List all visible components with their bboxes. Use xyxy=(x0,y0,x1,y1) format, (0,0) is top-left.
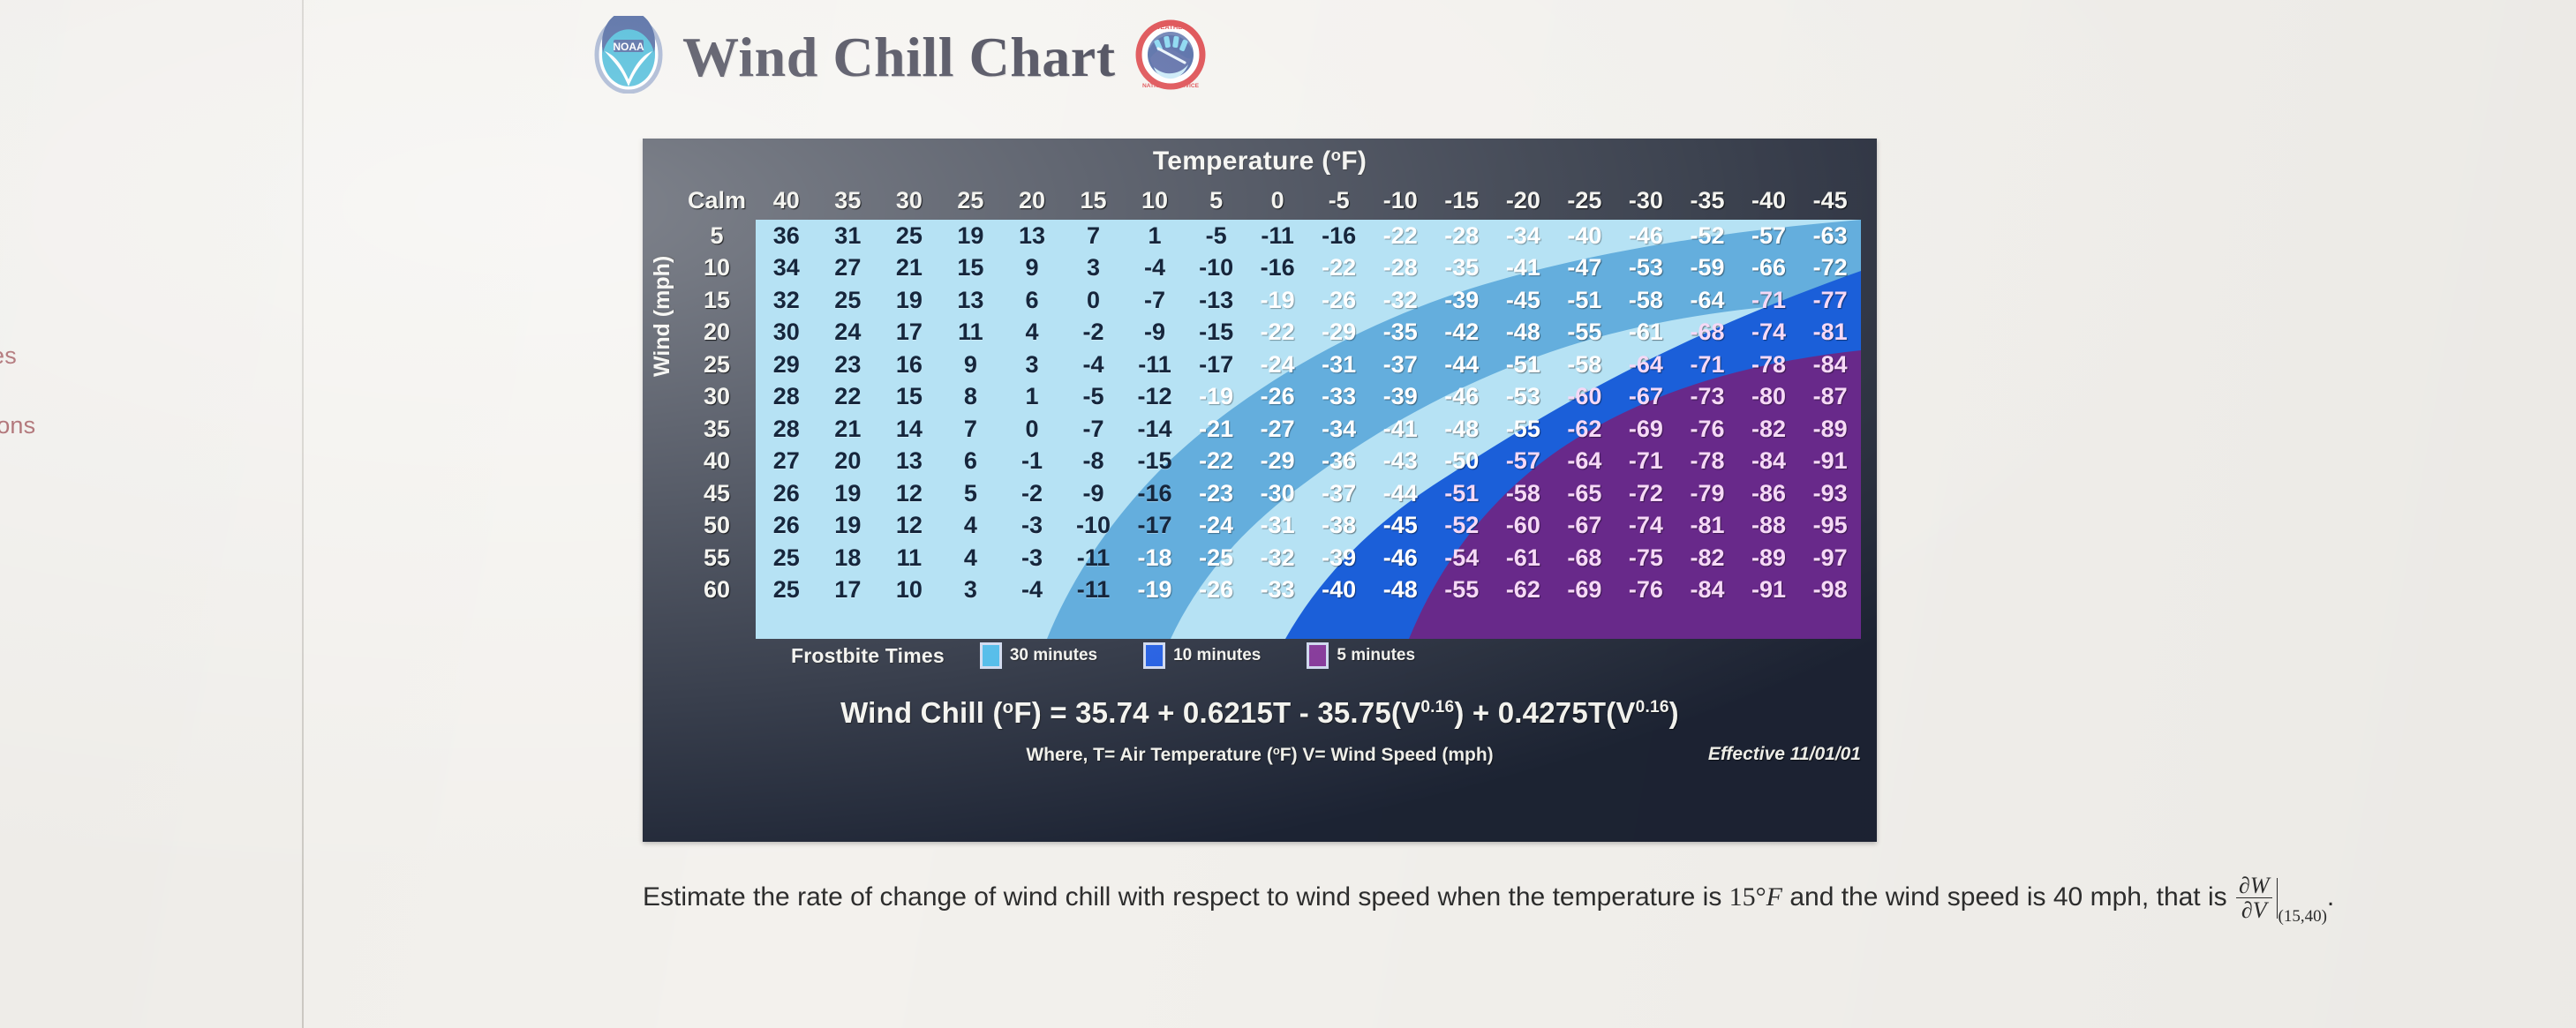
cell-w30-t-45: -87 xyxy=(1799,381,1861,414)
legend-swatch-0 xyxy=(980,642,1002,669)
cell-w60-t-20: -62 xyxy=(1493,574,1555,607)
cell-w60-t-5: -40 xyxy=(1308,574,1370,607)
evaluation-bar xyxy=(2277,878,2278,919)
cell-w50-t5: -24 xyxy=(1186,510,1247,543)
column-header-temp-30: 30 xyxy=(878,181,940,220)
question-period: . xyxy=(2327,882,2334,912)
cell-w45-t20: -2 xyxy=(1001,477,1063,510)
cell-w30-t-25: -60 xyxy=(1554,381,1616,414)
cell-w55-t-40: -89 xyxy=(1738,542,1800,574)
table-row: 153225191360-7-13-19-26-32-39-45-51-58-6… xyxy=(678,284,1861,317)
partial-derivative-fraction: ∂W∂V xyxy=(2236,874,2272,923)
cell-w5-t-20: -34 xyxy=(1493,220,1555,252)
cell-w20-t-30: -61 xyxy=(1616,317,1677,349)
column-header-temp-5: 5 xyxy=(1186,181,1247,220)
where-prefix: Where, T= Air Temperature ( xyxy=(1026,745,1272,765)
table-row: 552518114-3-11-18-25-32-39-46-54-61-68-7… xyxy=(678,542,1861,574)
table-row: 3528211470-7-14-21-27-34-41-48-55-62-69-… xyxy=(678,413,1861,446)
row-header-wind-40: 40 xyxy=(678,446,756,478)
formula-body: F) = 35.74 + 0.6215T - 35.75(V xyxy=(1013,696,1420,729)
cell-w20-t-20: -48 xyxy=(1493,317,1555,349)
cell-w55-t-45: -97 xyxy=(1799,542,1861,574)
cell-w10-t-10: -28 xyxy=(1369,252,1431,285)
effective-date: Effective 11/01/01 xyxy=(1708,744,1861,765)
cell-w35-t-45: -89 xyxy=(1799,413,1861,446)
cell-w5-t-10: -22 xyxy=(1369,220,1431,252)
national-weather-service-logo: WEATHER NATIONAL SERVICE xyxy=(1135,19,1206,94)
cell-w10-t-40: -66 xyxy=(1738,252,1800,285)
cell-w50-t15: -10 xyxy=(1063,510,1125,543)
column-header-temp--30: -30 xyxy=(1616,181,1677,220)
cell-w25-t15: -4 xyxy=(1063,349,1125,381)
cell-w25-t20: 3 xyxy=(1001,349,1063,381)
cell-w10-t40: 34 xyxy=(756,252,817,285)
cell-w50-t10: -17 xyxy=(1124,510,1186,543)
cell-w25-t-20: -51 xyxy=(1493,349,1555,381)
question-part-2: and the wind speed is 40 mph, that is xyxy=(1782,882,2234,912)
cell-w60-t-15: -55 xyxy=(1431,574,1493,607)
cell-w20-t10: -9 xyxy=(1124,317,1186,349)
cell-w40-t25: 6 xyxy=(940,446,1002,478)
legend-title: Frostbite Times xyxy=(791,644,945,668)
cell-w45-t-20: -58 xyxy=(1493,477,1555,510)
cell-w55-t5: -25 xyxy=(1186,542,1247,574)
cell-w20-t40: 30 xyxy=(756,317,817,349)
cell-w35-t-10: -41 xyxy=(1369,413,1431,446)
cell-w10-t-35: -59 xyxy=(1676,252,1738,285)
row-header-wind-25: 25 xyxy=(678,349,756,381)
cell-w50-t25: 4 xyxy=(940,510,1002,543)
row-header-wind-20: 20 xyxy=(678,317,756,349)
cell-w55-t-20: -61 xyxy=(1493,542,1555,574)
cell-w35-t-20: -55 xyxy=(1493,413,1555,446)
cell-w45-t-35: -79 xyxy=(1676,477,1738,510)
cell-w10-t-15: -35 xyxy=(1431,252,1493,285)
cell-w35-t-35: -76 xyxy=(1676,413,1738,446)
cell-w20-t20: 4 xyxy=(1001,317,1063,349)
column-header-temp-25: 25 xyxy=(940,181,1002,220)
cell-w15-t-35: -64 xyxy=(1676,284,1738,317)
table-row: 502619124-3-10-17-24-31-38-45-52-60-67-7… xyxy=(678,510,1861,543)
cell-w20-t-15: -42 xyxy=(1431,317,1493,349)
cell-w35-t5: -21 xyxy=(1186,413,1247,446)
row-header-wind-50: 50 xyxy=(678,510,756,543)
degree-symbol: o xyxy=(1331,146,1342,164)
temperature-axis-title-tail: F) xyxy=(1341,146,1367,176)
cell-w40-t15: -8 xyxy=(1063,446,1125,478)
cell-w50-t-40: -88 xyxy=(1738,510,1800,543)
cell-w45-t-25: -65 xyxy=(1554,477,1616,510)
cell-w35-t40: 28 xyxy=(756,413,817,446)
cell-w15-t-20: -45 xyxy=(1493,284,1555,317)
cell-w55-t0: -32 xyxy=(1247,542,1308,574)
cell-w40-t0: -29 xyxy=(1247,446,1308,478)
cell-w25-t30: 16 xyxy=(878,349,940,381)
cell-w5-t15: 7 xyxy=(1063,220,1125,252)
cell-w15-t40: 32 xyxy=(756,284,817,317)
cell-w55-t15: -11 xyxy=(1063,542,1125,574)
cell-w20-t5: -15 xyxy=(1186,317,1247,349)
formula-exponent-1: 0.16 xyxy=(1420,698,1454,717)
cell-w45-t0: -30 xyxy=(1247,477,1308,510)
cell-w5-t40: 36 xyxy=(756,220,817,252)
wind-axis-title: Wind (mph) xyxy=(650,256,675,377)
cell-w40-t-45: -91 xyxy=(1799,446,1861,478)
cell-w15-t-25: -51 xyxy=(1554,284,1616,317)
cell-w60-t40: 25 xyxy=(756,574,817,607)
cell-w60-t10: -19 xyxy=(1124,574,1186,607)
formula-lead: Wind Chill ( xyxy=(840,696,1003,729)
cell-w40-t10: -15 xyxy=(1124,446,1186,478)
cell-w45-t5: -23 xyxy=(1186,477,1247,510)
cell-w40-t-30: -71 xyxy=(1616,446,1677,478)
table-row: 2529231693-4-11-17-24-31-37-44-51-58-64-… xyxy=(678,349,1861,381)
cell-w20-t0: -22 xyxy=(1247,317,1308,349)
table-row: 5363125191371-5-11-16-22-28-34-40-46-52-… xyxy=(678,220,1861,252)
formula-tail: ) xyxy=(1669,696,1679,729)
cell-w5-t-40: -57 xyxy=(1738,220,1800,252)
cell-w25-t25: 9 xyxy=(940,349,1002,381)
wind-chill-formula: Wind Chill (oF) = 35.74 + 0.6215T - 35.7… xyxy=(643,696,1877,730)
cell-w10-t30: 21 xyxy=(878,252,940,285)
cell-w15-t35: 25 xyxy=(817,284,879,317)
table-header-row: Calm 4035302520151050-5-10-15-20-25-30-3… xyxy=(678,181,1861,220)
cell-w25-t-5: -31 xyxy=(1308,349,1370,381)
cell-w15-t30: 19 xyxy=(878,284,940,317)
cell-w40-t-5: -36 xyxy=(1308,446,1370,478)
cell-w20-t35: 24 xyxy=(817,317,879,349)
row-header-wind-15: 15 xyxy=(678,284,756,317)
table-row: 3028221581-5-12-19-26-33-39-46-53-60-67-… xyxy=(678,381,1861,414)
table-body: 5363125191371-5-11-16-22-28-34-40-46-52-… xyxy=(678,220,1861,606)
cell-w50-t35: 19 xyxy=(817,510,879,543)
cell-w25-t40: 29 xyxy=(756,349,817,381)
cell-w5-t-25: -40 xyxy=(1554,220,1616,252)
cell-w30-t-15: -46 xyxy=(1431,381,1493,414)
corner-label-calm: Calm xyxy=(678,181,756,220)
column-header-temp-10: 10 xyxy=(1124,181,1186,220)
cell-w55-t40: 25 xyxy=(756,542,817,574)
table-row: 602517103-4-11-19-26-33-40-48-55-62-69-7… xyxy=(678,574,1861,607)
cell-w50-t-30: -74 xyxy=(1616,510,1677,543)
cell-w15-t-5: -26 xyxy=(1308,284,1370,317)
cell-w30-t40: 28 xyxy=(756,381,817,414)
screenshot-root: es ions NOAA Wind Chill Cha xyxy=(0,0,2576,1028)
cell-w10-t35: 27 xyxy=(817,252,879,285)
formula-legend-line: Where, T= Air Temperature (oF) V= Wind S… xyxy=(643,744,1877,766)
table-row: 452619125-2-9-16-23-30-37-44-51-58-65-72… xyxy=(678,477,1861,510)
cell-w10-t-5: -22 xyxy=(1308,252,1370,285)
cell-w60-t5: -26 xyxy=(1186,574,1247,607)
cell-w50-t-45: -95 xyxy=(1799,510,1861,543)
partial-derivative-numerator: ∂W xyxy=(2236,874,2272,898)
cell-w40-t-20: -57 xyxy=(1493,446,1555,478)
main-content: NOAA Wind Chill Chart xyxy=(303,0,2576,1028)
cell-w15-t-15: -39 xyxy=(1431,284,1493,317)
cell-w25-t-35: -71 xyxy=(1676,349,1738,381)
cell-w30-t5: -19 xyxy=(1186,381,1247,414)
cell-w30-t0: -26 xyxy=(1247,381,1308,414)
formula-mid: ) + 0.4275T(V xyxy=(1454,696,1635,729)
question-temperature-value: 15 xyxy=(1729,882,1756,912)
cell-w15-t0: -19 xyxy=(1247,284,1308,317)
cell-w55-t-5: -39 xyxy=(1308,542,1370,574)
sidebar-text-fragment-1[interactable]: es xyxy=(0,342,17,370)
cell-w45-t-10: -44 xyxy=(1369,477,1431,510)
partial-derivative-denominator: ∂V xyxy=(2236,898,2272,922)
cell-w45-t40: 26 xyxy=(756,477,817,510)
cell-w15-t-30: -58 xyxy=(1616,284,1677,317)
cell-w40-t20: -1 xyxy=(1001,446,1063,478)
cell-w35-t-5: -34 xyxy=(1308,413,1370,446)
cell-w10-t0: -16 xyxy=(1247,252,1308,285)
row-header-wind-35: 35 xyxy=(678,413,756,446)
row-header-wind-45: 45 xyxy=(678,477,756,510)
cell-w25-t-10: -37 xyxy=(1369,349,1431,381)
column-header-temp-40: 40 xyxy=(756,181,817,220)
cell-w55-t10: -18 xyxy=(1124,542,1186,574)
degree-sign: ° xyxy=(1756,882,1766,912)
cell-w50-t-20: -60 xyxy=(1493,510,1555,543)
frostbite-legend: Frostbite Times 30 minutes10 minutes5 mi… xyxy=(791,642,1438,669)
cell-w45-t-45: -93 xyxy=(1799,477,1861,510)
sidebar-text-fragment-2[interactable]: ions xyxy=(0,412,35,439)
legend-label-1: 10 minutes xyxy=(1173,646,1261,665)
cell-w25-t-40: -78 xyxy=(1738,349,1800,381)
cell-w15-t5: -13 xyxy=(1186,284,1247,317)
cell-w55-t25: 4 xyxy=(940,542,1002,574)
cell-w5-t-35: -52 xyxy=(1676,220,1738,252)
legend-item-1: 10 minutes xyxy=(1143,642,1261,669)
column-header-temp--10: -10 xyxy=(1369,181,1431,220)
column-header-temp-0: 0 xyxy=(1247,181,1308,220)
cell-w30-t15: -5 xyxy=(1063,381,1125,414)
cell-w5-t25: 19 xyxy=(940,220,1002,252)
legend-label-0: 30 minutes xyxy=(1010,646,1097,665)
column-header-temp--15: -15 xyxy=(1431,181,1493,220)
svg-text:NATIONAL SERVICE: NATIONAL SERVICE xyxy=(1141,83,1199,89)
cell-w35-t-15: -48 xyxy=(1431,413,1493,446)
cell-w15-t15: 0 xyxy=(1063,284,1125,317)
question-temperature-unit: F xyxy=(1766,882,1782,912)
formula-degree-symbol: o xyxy=(1003,697,1014,717)
cell-w50-t20: -3 xyxy=(1001,510,1063,543)
cell-w40-t35: 20 xyxy=(817,446,879,478)
svg-text:WEATHER: WEATHER xyxy=(1154,23,1187,31)
cell-w10-t10: -4 xyxy=(1124,252,1186,285)
cell-w45-t35: 19 xyxy=(817,477,879,510)
table-row: 103427211593-4-10-16-22-28-35-41-47-53-5… xyxy=(678,252,1861,285)
cell-w5-t35: 31 xyxy=(817,220,879,252)
cell-w50-t-15: -52 xyxy=(1431,510,1493,543)
cell-w10-t15: 3 xyxy=(1063,252,1125,285)
cell-w25-t-15: -44 xyxy=(1431,349,1493,381)
cell-w45-t25: 5 xyxy=(940,477,1002,510)
cell-w45-t10: -16 xyxy=(1124,477,1186,510)
column-header-temp-20: 20 xyxy=(1001,181,1063,220)
cell-w60-t25: 3 xyxy=(940,574,1002,607)
cell-w30-t-30: -67 xyxy=(1616,381,1677,414)
legend-item-2: 5 minutes xyxy=(1307,642,1415,669)
cell-w35-t10: -14 xyxy=(1124,413,1186,446)
evaluation-point: (15,40) xyxy=(2278,907,2327,926)
cell-w40-t-15: -50 xyxy=(1431,446,1493,478)
cell-w35-t25: 7 xyxy=(940,413,1002,446)
cell-w15-t-45: -77 xyxy=(1799,284,1861,317)
column-header-temp--45: -45 xyxy=(1799,181,1861,220)
cell-w15-t20: 6 xyxy=(1001,284,1063,317)
wind-chill-chart-panel: Temperature (oF) Wind (mph) xyxy=(643,139,1877,842)
row-header-wind-5: 5 xyxy=(678,220,756,252)
cell-w60-t30: 10 xyxy=(878,574,940,607)
cell-w30-t-20: -53 xyxy=(1493,381,1555,414)
page-title: Wind Chill Chart xyxy=(682,25,1116,90)
wind-chill-data-table: Calm 4035302520151050-5-10-15-20-25-30-3… xyxy=(678,181,1861,606)
cell-w30-t20: 1 xyxy=(1001,381,1063,414)
cell-w25-t-45: -84 xyxy=(1799,349,1861,381)
cell-w10-t-20: -41 xyxy=(1493,252,1555,285)
cell-w20-t-10: -35 xyxy=(1369,317,1431,349)
cell-w45-t15: -9 xyxy=(1063,477,1125,510)
cell-w5-t-45: -63 xyxy=(1799,220,1861,252)
cell-w20-t-40: -74 xyxy=(1738,317,1800,349)
cell-w15-t25: 13 xyxy=(940,284,1002,317)
cell-w60-t35: 17 xyxy=(817,574,879,607)
table-row: 20302417114-2-9-15-22-29-35-42-48-55-61-… xyxy=(678,317,1861,349)
cell-w30-t30: 15 xyxy=(878,381,940,414)
cell-w35-t15: -7 xyxy=(1063,413,1125,446)
column-header-temp-15: 15 xyxy=(1063,181,1125,220)
cell-w20-t-45: -81 xyxy=(1799,317,1861,349)
cell-w60-t20: -4 xyxy=(1001,574,1063,607)
legend-swatch-1 xyxy=(1143,642,1165,669)
row-header-wind-55: 55 xyxy=(678,542,756,574)
cell-w20-t-35: -68 xyxy=(1676,317,1738,349)
cell-w40-t-25: -64 xyxy=(1554,446,1616,478)
cell-w5-t5: -5 xyxy=(1186,220,1247,252)
cell-w35-t-40: -82 xyxy=(1738,413,1800,446)
column-header-temp--25: -25 xyxy=(1554,181,1616,220)
column-header-temp-35: 35 xyxy=(817,181,879,220)
cell-w50-t-10: -45 xyxy=(1369,510,1431,543)
cell-w55-t30: 11 xyxy=(878,542,940,574)
table-row: 402720136-1-8-15-22-29-36-43-50-57-64-71… xyxy=(678,446,1861,478)
cell-w55-t35: 18 xyxy=(817,542,879,574)
cell-w60-t-30: -76 xyxy=(1616,574,1677,607)
chart-title-row: NOAA Wind Chill Chart xyxy=(594,16,1206,98)
cell-w20-t25: 11 xyxy=(940,317,1002,349)
cell-w10-t20: 9 xyxy=(1001,252,1063,285)
cell-w5-t20: 13 xyxy=(1001,220,1063,252)
question-text: Estimate the rate of change of wind chil… xyxy=(643,874,2576,928)
where-suffix: F) V= Wind Speed (mph) xyxy=(1280,745,1494,765)
where-degree-symbol: o xyxy=(1273,744,1280,757)
cell-w5-t-5: -16 xyxy=(1308,220,1370,252)
legend-swatch-2 xyxy=(1307,642,1329,669)
cell-w40-t-35: -78 xyxy=(1676,446,1738,478)
cell-w25-t-25: -58 xyxy=(1554,349,1616,381)
cell-w40-t-40: -84 xyxy=(1738,446,1800,478)
cell-w55-t-30: -75 xyxy=(1616,542,1677,574)
column-header-temp--20: -20 xyxy=(1493,181,1555,220)
cell-w5-t-30: -46 xyxy=(1616,220,1677,252)
cell-w30-t-35: -73 xyxy=(1676,381,1738,414)
cell-w60-t-25: -69 xyxy=(1554,574,1616,607)
cell-w35-t0: -27 xyxy=(1247,413,1308,446)
cell-w50-t-35: -81 xyxy=(1676,510,1738,543)
cell-w25-t0: -24 xyxy=(1247,349,1308,381)
cell-w55-t-25: -68 xyxy=(1554,542,1616,574)
cell-w40-t5: -22 xyxy=(1186,446,1247,478)
cell-w55-t-15: -54 xyxy=(1431,542,1493,574)
cell-w55-t-10: -46 xyxy=(1369,542,1431,574)
cell-w40-t30: 13 xyxy=(878,446,940,478)
cell-w10-t-45: -72 xyxy=(1799,252,1861,285)
cell-w25-t-30: -64 xyxy=(1616,349,1677,381)
cell-w30-t35: 22 xyxy=(817,381,879,414)
cell-w20-t-5: -29 xyxy=(1308,317,1370,349)
cell-w35-t-30: -69 xyxy=(1616,413,1677,446)
cell-w20-t30: 17 xyxy=(878,317,940,349)
cell-w45-t-5: -37 xyxy=(1308,477,1370,510)
cell-w25-t35: 23 xyxy=(817,349,879,381)
cell-w5-t10: 1 xyxy=(1124,220,1186,252)
cell-w45-t-30: -72 xyxy=(1616,477,1677,510)
legend-label-2: 5 minutes xyxy=(1337,646,1415,665)
chart-grid: Calm 4035302520151050-5-10-15-20-25-30-3… xyxy=(678,181,1861,525)
cell-w50-t0: -31 xyxy=(1247,510,1308,543)
cell-w5-t-15: -28 xyxy=(1431,220,1493,252)
cell-w10-t-25: -47 xyxy=(1554,252,1616,285)
legend-item-0: 30 minutes xyxy=(980,642,1097,669)
column-header-temp--5: -5 xyxy=(1308,181,1370,220)
cell-w50-t-25: -67 xyxy=(1554,510,1616,543)
cell-w40-t-10: -43 xyxy=(1369,446,1431,478)
cell-w55-t20: -3 xyxy=(1001,542,1063,574)
question-part-1: Estimate the rate of change of wind chil… xyxy=(643,882,1729,912)
cell-w60-t-10: -48 xyxy=(1369,574,1431,607)
cell-w50-t30: 12 xyxy=(878,510,940,543)
cell-w50-t-5: -38 xyxy=(1308,510,1370,543)
cell-w35-t30: 14 xyxy=(878,413,940,446)
cell-w40-t40: 27 xyxy=(756,446,817,478)
cell-w15-t10: -7 xyxy=(1124,284,1186,317)
cell-w15-t-10: -32 xyxy=(1369,284,1431,317)
cell-w45-t-40: -86 xyxy=(1738,477,1800,510)
cell-w30-t10: -12 xyxy=(1124,381,1186,414)
cell-w60-t15: -11 xyxy=(1063,574,1125,607)
cell-w55-t-35: -82 xyxy=(1676,542,1738,574)
temperature-axis-title: Temperature (oF) xyxy=(643,146,1877,176)
cell-w35-t35: 21 xyxy=(817,413,879,446)
temperature-axis-title-text: Temperature ( xyxy=(1153,146,1331,176)
cell-w20-t15: -2 xyxy=(1063,317,1125,349)
cell-w30-t-40: -80 xyxy=(1738,381,1800,414)
cell-w5-t30: 25 xyxy=(878,220,940,252)
cell-w30-t-10: -39 xyxy=(1369,381,1431,414)
cell-w45-t-15: -51 xyxy=(1431,477,1493,510)
cell-w35-t-25: -62 xyxy=(1554,413,1616,446)
cell-w60-t0: -33 xyxy=(1247,574,1308,607)
cell-w60-t-35: -84 xyxy=(1676,574,1738,607)
column-header-temp--35: -35 xyxy=(1676,181,1738,220)
cell-w60-t-45: -98 xyxy=(1799,574,1861,607)
cell-w30-t-5: -33 xyxy=(1308,381,1370,414)
cell-w30-t25: 8 xyxy=(940,381,1002,414)
noaa-logo: NOAA xyxy=(594,16,663,98)
cell-w20-t-25: -55 xyxy=(1554,317,1616,349)
cell-w5-t0: -11 xyxy=(1247,220,1308,252)
